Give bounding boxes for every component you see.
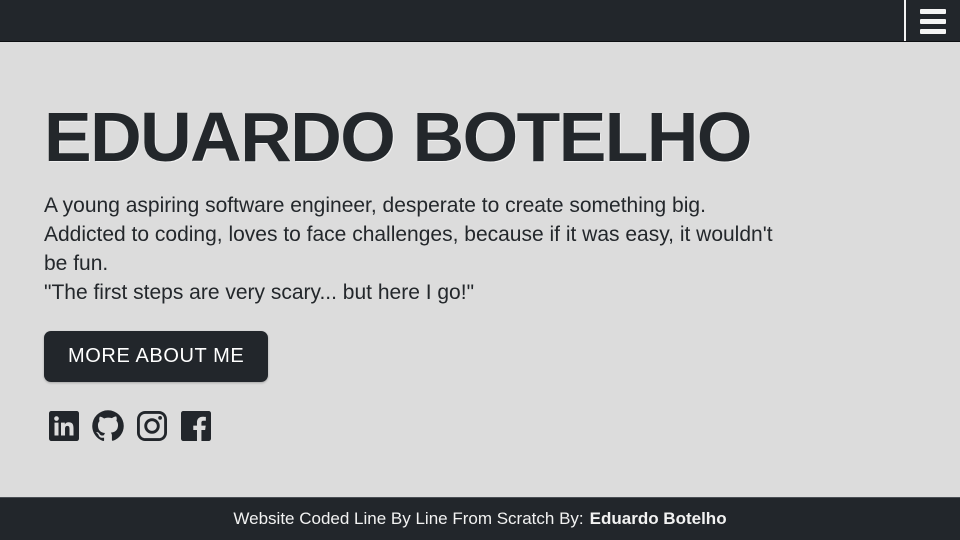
linkedin-icon[interactable] (44, 406, 84, 446)
site-header (0, 0, 960, 42)
social-links (44, 406, 916, 446)
linkedin-glyph (46, 408, 82, 444)
facebook-glyph (178, 408, 214, 444)
facebook-icon[interactable] (176, 406, 216, 446)
more-about-me-button[interactable]: MORE ABOUT ME (44, 331, 268, 382)
hero-section: EDUARDO BOTELHO A young aspiring softwar… (0, 42, 960, 497)
hero-description-line-3: be fun. (44, 249, 916, 278)
page-title: EDUARDO BOTELHO (44, 104, 933, 171)
site-footer: Website Coded Line By Line From Scratch … (0, 497, 960, 540)
hero-description-line-4: "The first steps are very scary... but h… (44, 278, 916, 307)
hamburger-bar-top (920, 9, 946, 14)
footer-credit-text: Website Coded Line By Line From Scratch … (233, 509, 583, 529)
footer-credit-name: Eduardo Botelho (590, 509, 727, 529)
hero-description: A young aspiring software engineer, desp… (44, 191, 916, 307)
github-icon[interactable] (88, 406, 128, 446)
hamburger-bar-bottom (920, 29, 946, 34)
hamburger-menu-icon[interactable] (906, 0, 960, 42)
github-glyph (90, 408, 126, 444)
instagram-icon[interactable] (132, 406, 172, 446)
hero-description-line-1: A young aspiring software engineer, desp… (44, 191, 916, 220)
hero-description-line-2: Addicted to coding, loves to face challe… (44, 220, 916, 249)
hamburger-bar-middle (920, 19, 946, 24)
instagram-glyph (134, 408, 170, 444)
